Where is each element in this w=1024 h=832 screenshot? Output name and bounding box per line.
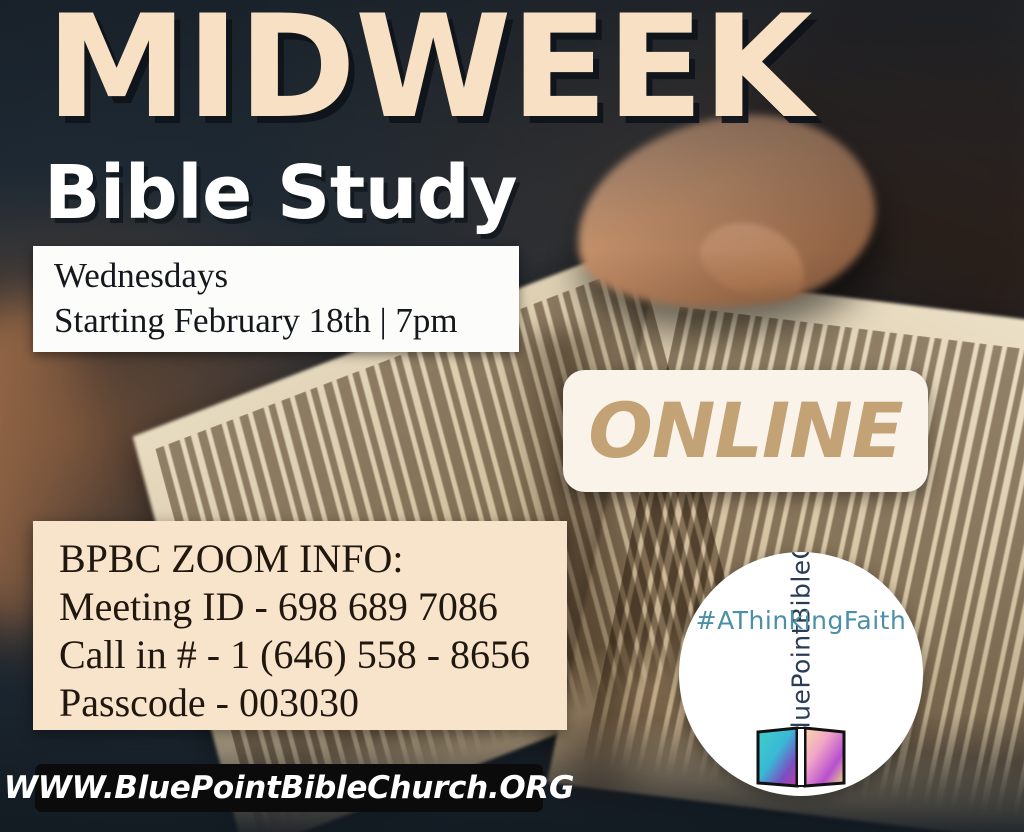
website-bar[interactable]: WWW.BluePointBibleChurch.ORG [35,764,543,812]
zoom-info-box: BPBC ZOOM INFO: Meeting ID - 698 689 708… [33,521,567,730]
zoom-call-in-number: Call in # - 1 (646) 558 - 8656 [59,631,567,679]
logo-hashtag: #AThinkingFaith [679,606,923,635]
schedule-box: Wednesdays Starting February 18th | 7pm [33,246,519,352]
schedule-day: Wednesdays [54,254,519,299]
format-badge: ONLINE [563,370,928,492]
page-subtitle: Bible Study [44,150,517,236]
zoom-meeting-id: Meeting ID - 698 689 7086 [59,583,567,631]
poster-canvas: MIDWEEK Bible Study Wednesdays Starting … [0,0,1024,832]
church-logo: BluePointBibleChurch #AThinkingFaith [679,552,923,796]
format-badge-label: ONLINE [588,393,902,469]
page-title: MIDWEEK [46,0,812,141]
schedule-start-time: Starting February 18th | 7pm [54,299,519,344]
website-url: WWW.BluePointBibleChurch.ORG [4,770,574,806]
zoom-passcode: Passcode - 003030 [59,679,567,727]
logo-church-name: BluePointBibleChurch [787,556,816,746]
open-book-icon [755,726,847,790]
zoom-info-heading: BPBC ZOOM INFO: [59,535,567,583]
